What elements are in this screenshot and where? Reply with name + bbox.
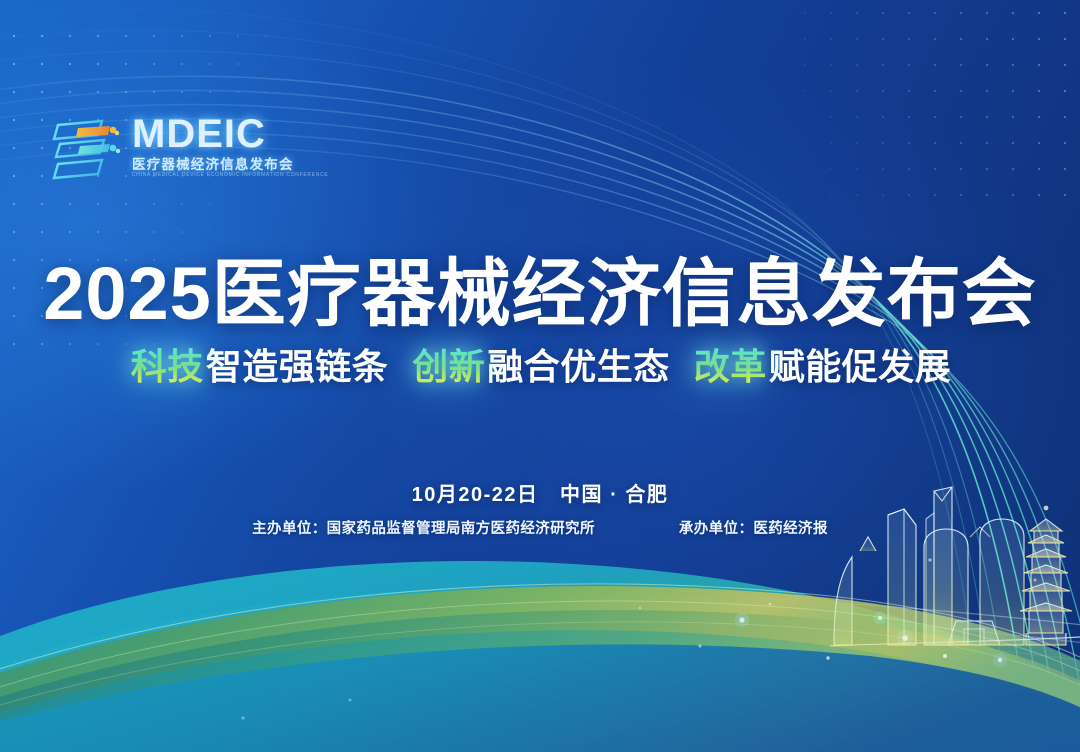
mdeic-logo-mark bbox=[48, 108, 122, 184]
dot-grid-pattern-top-right bbox=[740, 0, 1080, 210]
co-organizer: 承办单位：医药经济报 bbox=[679, 517, 828, 538]
logo-wordmark: MDEIC bbox=[132, 114, 328, 154]
slogan-part-5: 改革 bbox=[692, 338, 769, 390]
skyline-outlines bbox=[830, 487, 1080, 646]
hefei-city-skyline bbox=[830, 485, 1080, 660]
logo-chinese-name: 医疗器械经济信息发布会 bbox=[132, 158, 328, 172]
host-organizer: 主办单位：国家药品监督管理局南方医药经济研究所 bbox=[252, 517, 595, 538]
event-logo: MDEIC 医疗器械经济信息发布会 CHINA MEDICAL DEVICE E… bbox=[48, 108, 328, 184]
wave-blue-foot bbox=[0, 644, 1080, 752]
event-poster: MDEIC 医疗器械经济信息发布会 CHINA MEDICAL DEVICE E… bbox=[0, 0, 1080, 752]
subtitle-slogan: 科技智造强链条创新融合优生态改革赋能促发展 bbox=[0, 338, 1080, 390]
slogan-part-2: 智造强链条 bbox=[206, 338, 389, 390]
slogan-part-3: 创新 bbox=[410, 338, 487, 390]
page-title: 2025医疗器械经济信息发布会 bbox=[0, 234, 1080, 341]
pagoda-tower bbox=[1018, 506, 1074, 645]
slogan-part-6: 赋能促发展 bbox=[769, 338, 952, 390]
slogan-part-1: 科技 bbox=[129, 338, 206, 390]
logo-english-name: CHINA MEDICAL DEVICE ECONOMIC INFORMATIO… bbox=[132, 173, 328, 178]
slogan-part-4: 融合优生态 bbox=[487, 338, 670, 390]
